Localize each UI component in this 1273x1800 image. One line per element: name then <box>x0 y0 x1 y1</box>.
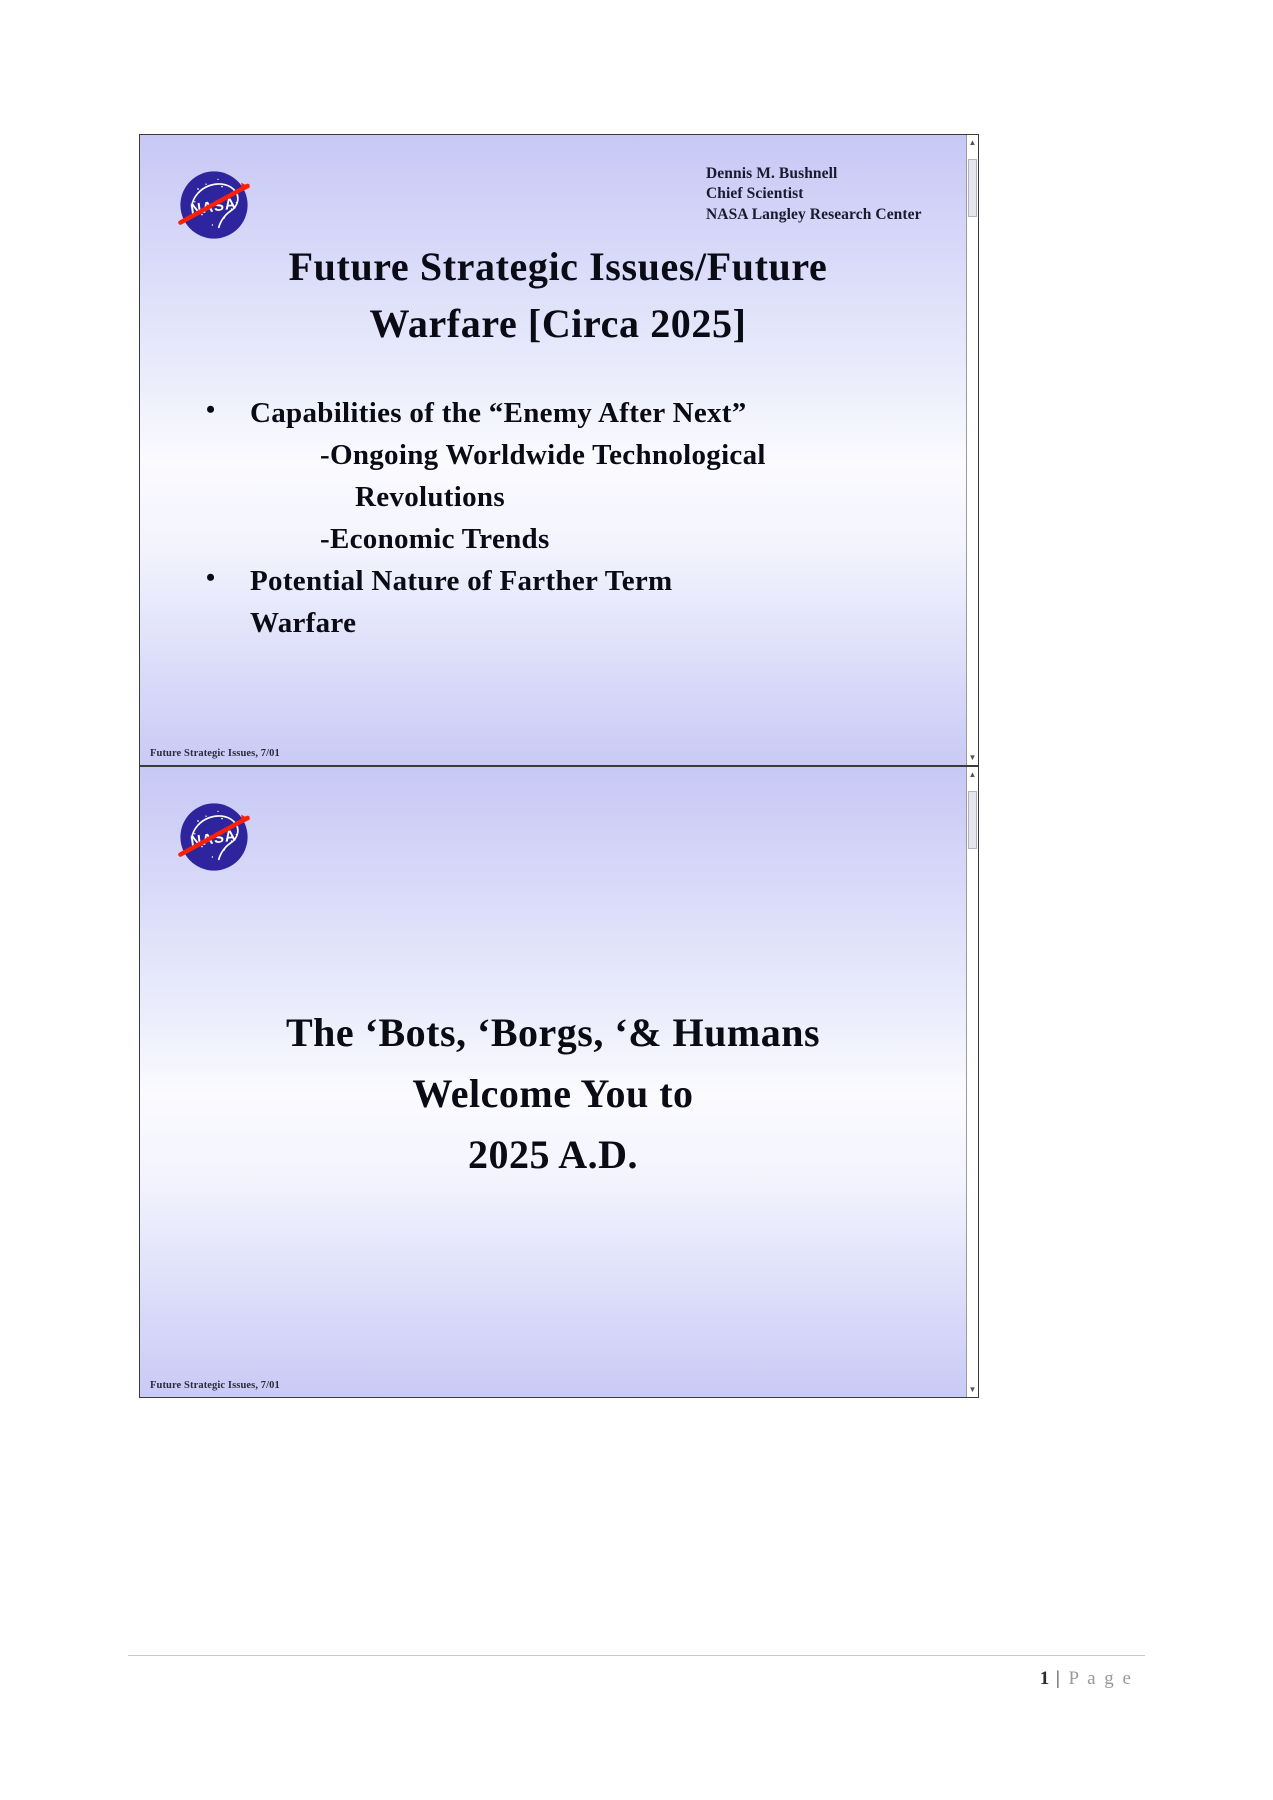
slide-1-title-line-2: Warfare [Circa 2025] <box>190 296 926 353</box>
slide-2[interactable]: NASA The ‘Bots, ‘Borgs, ‘& Humans Welcom… <box>139 766 979 1398</box>
slide-1-scrollbar[interactable]: ▲ ▼ <box>966 135 978 765</box>
slide-2-title-line-2: Welcome You to <box>180 1064 926 1125</box>
scroll-thumb[interactable] <box>968 791 977 849</box>
author-org: NASA Langley Research Center <box>706 205 922 225</box>
bullet-item-1-text: Capabilities of the “Enemy After Next” <box>250 397 747 429</box>
slide-1-title: Future Strategic Issues/Future Warfare [… <box>190 239 926 353</box>
bullet-item-6-text: Warfare <box>250 607 356 639</box>
slide-1-title-line-1: Future Strategic Issues/Future <box>190 239 926 296</box>
author-name: Dennis M. Bushnell <box>706 164 922 184</box>
scroll-thumb[interactable] <box>968 159 977 217</box>
page-number-separator: | <box>1056 1668 1062 1689</box>
document-page: NASA Dennis M. Bushnell Chief Scientist … <box>0 0 1273 1800</box>
scroll-down-icon[interactable]: ▼ <box>967 752 978 763</box>
bullet-item-5-text: Potential Nature of Farther Term <box>250 565 673 597</box>
bullet-item-2: -Ongoing Worldwide Technological <box>192 435 936 475</box>
footer-divider <box>128 1655 1145 1656</box>
scroll-up-icon[interactable]: ▲ <box>967 137 978 148</box>
slide-2-title-line-1: The ‘Bots, ‘Borgs, ‘& Humans <box>180 1003 926 1064</box>
page-number: 1 <box>1040 1668 1050 1689</box>
slide-2-canvas: NASA The ‘Bots, ‘Borgs, ‘& Humans Welcom… <box>140 767 966 1397</box>
slide-1[interactable]: NASA Dennis M. Bushnell Chief Scientist … <box>139 134 979 766</box>
author-block: Dennis M. Bushnell Chief Scientist NASA … <box>706 164 922 225</box>
scroll-down-icon[interactable]: ▼ <box>967 1384 978 1395</box>
page-number-label: 1 | P a g e <box>1040 1668 1133 1690</box>
slide-2-footer: Future Strategic Issues, 7/01 <box>150 1380 280 1391</box>
bullet-dot-icon: • <box>206 392 215 428</box>
bullet-item-3-text: Revolutions <box>355 481 505 513</box>
nasa-meatball-icon: NASA <box>174 165 254 245</box>
page-word: P a g e <box>1069 1668 1133 1689</box>
nasa-meatball-icon: NASA <box>174 797 254 877</box>
slide-2-scrollbar[interactable]: ▲ ▼ <box>966 767 978 1397</box>
slide-1-canvas: NASA Dennis M. Bushnell Chief Scientist … <box>140 135 966 765</box>
bullet-item-4: -Economic Trends <box>192 519 936 559</box>
slide-1-footer: Future Strategic Issues, 7/01 <box>150 748 280 759</box>
bullet-item-6: Warfare <box>192 603 936 643</box>
slide-1-bullet-list: • Capabilities of the “Enemy After Next”… <box>192 393 936 645</box>
bullet-item-5: • Potential Nature of Farther Term <box>192 561 936 601</box>
bullet-item-3: Revolutions <box>192 477 936 517</box>
slide-2-title: The ‘Bots, ‘Borgs, ‘& Humans Welcome You… <box>180 1003 926 1185</box>
scroll-up-icon[interactable]: ▲ <box>967 769 978 780</box>
bullet-item-1: • Capabilities of the “Enemy After Next” <box>192 393 936 433</box>
author-role: Chief Scientist <box>706 184 922 204</box>
bullet-dot-icon: • <box>206 560 215 596</box>
bullet-item-2-text: -Ongoing Worldwide Technological <box>320 439 766 471</box>
bullet-item-4-text: -Economic Trends <box>320 523 550 555</box>
slide-2-title-line-3: 2025 A.D. <box>180 1125 926 1186</box>
page-footer: 1 | P a g e <box>128 1655 1145 1715</box>
